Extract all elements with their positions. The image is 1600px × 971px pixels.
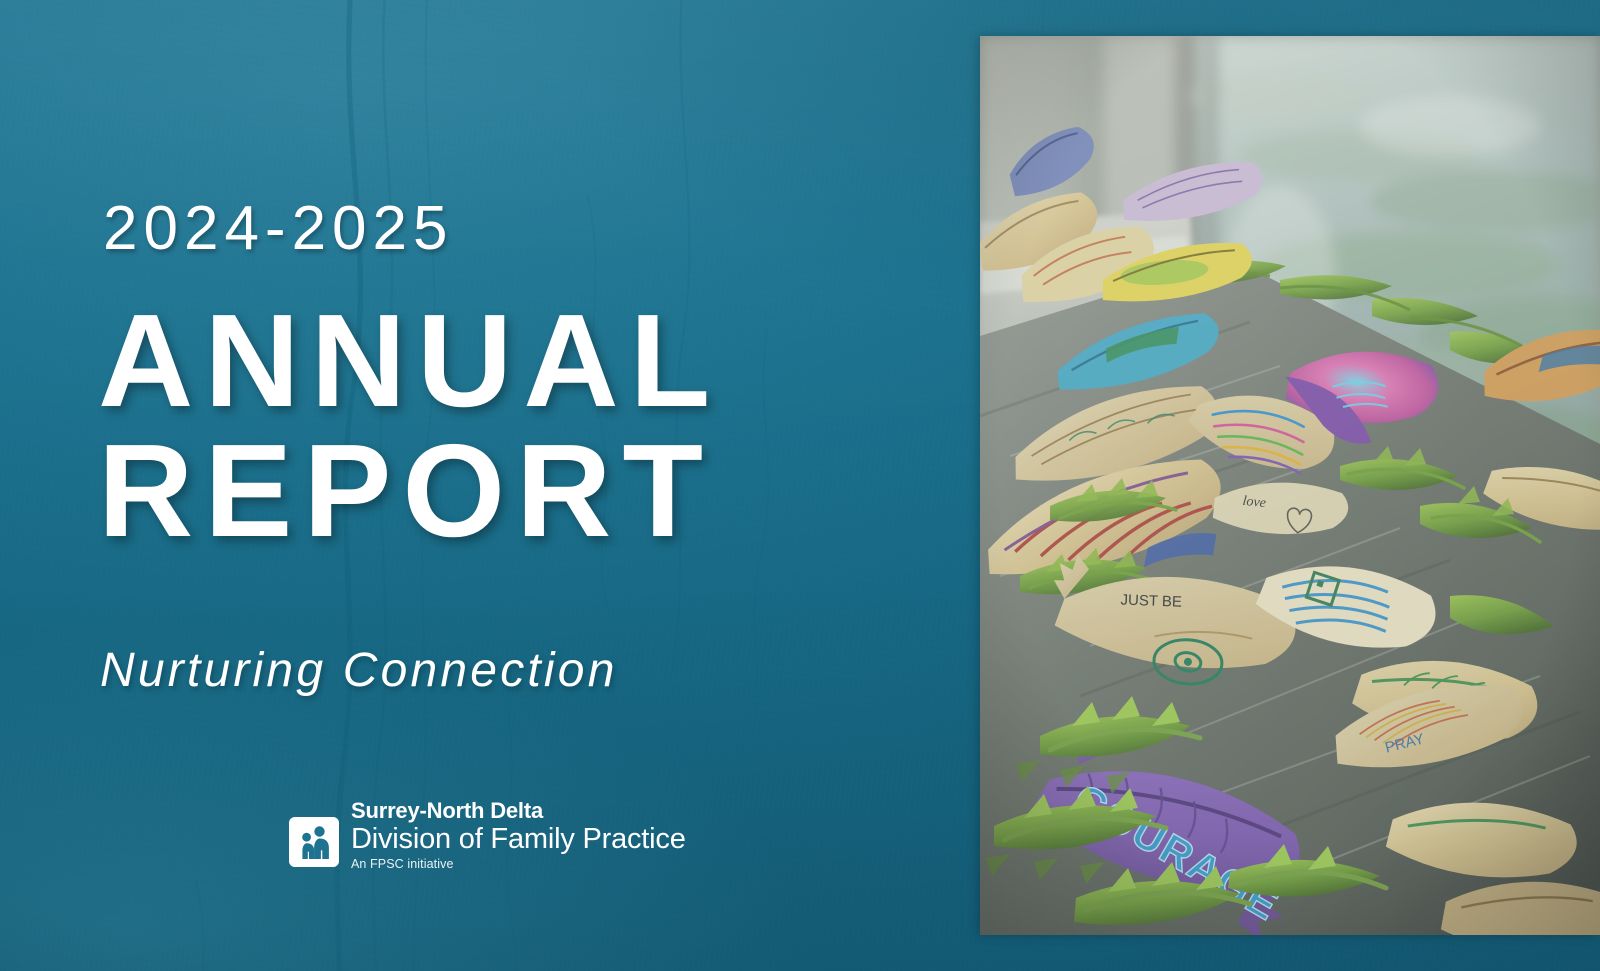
cover-text-column: 2024-2025 ANNUAL REPORT Nurturing Connec… (0, 0, 980, 971)
annual-report-cover: 2024-2025 ANNUAL REPORT Nurturing Connec… (0, 0, 1600, 971)
page-title-line-2: REPORT (98, 426, 938, 556)
logo-line-2: Division of Family Practice (351, 823, 686, 855)
report-tagline: Nurturing Connection (100, 643, 618, 698)
cover-photo: JUST BE (980, 36, 1600, 935)
family-figures-icon (289, 817, 339, 867)
logo-line-1: Surrey-North Delta (351, 798, 686, 824)
page-title-line-1: ANNUAL (98, 296, 938, 426)
logo-wordmark: Surrey-North Delta Division of Family Pr… (351, 798, 686, 871)
report-year: 2024-2025 (103, 198, 454, 260)
organization-logo: Surrey-North Delta Division of Family Pr… (289, 798, 686, 871)
logo-line-3: An FPSC initiative (351, 857, 686, 871)
page-title: ANNUAL REPORT (98, 296, 938, 556)
cover-photo-artwork: JUST BE (980, 36, 1600, 935)
